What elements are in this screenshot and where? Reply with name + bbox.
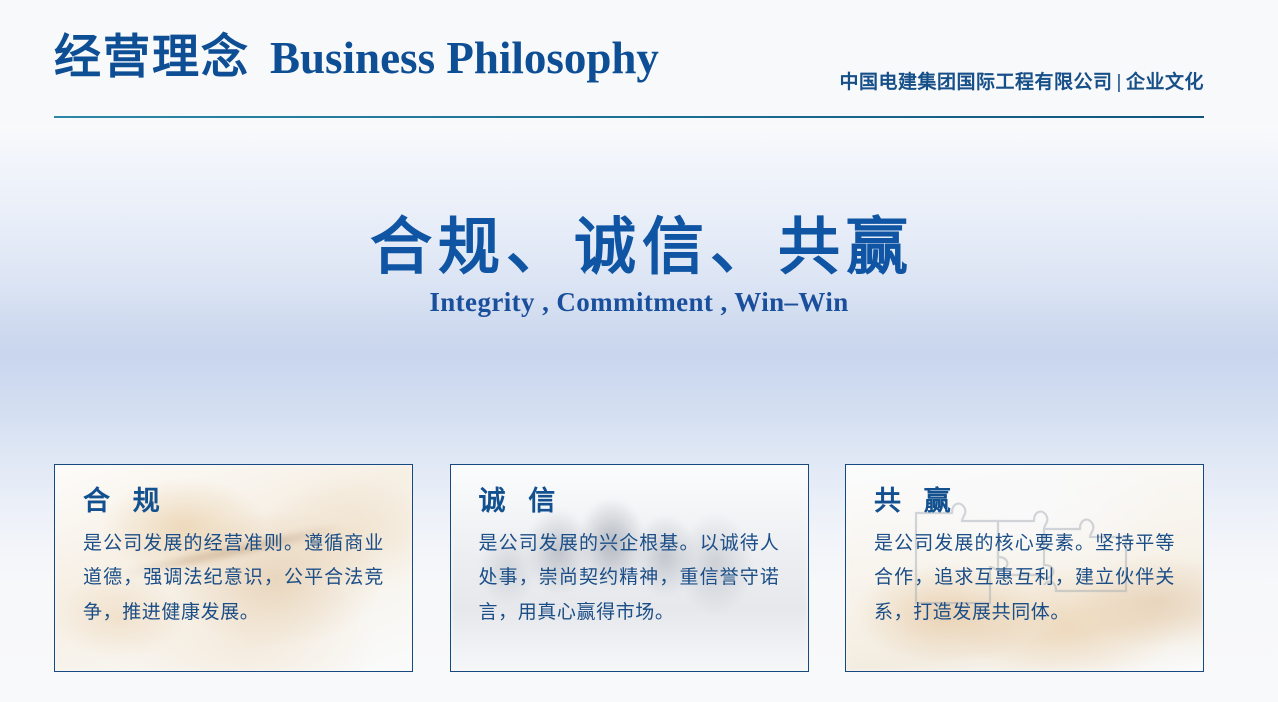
card-content: 诚 信 是公司发展的兴企根基。以诚待人处事，崇尚契约精神，重信誉守诺言，用真心赢… <box>451 465 808 630</box>
header-title-group: 经营理念 Business Philosophy <box>54 35 659 82</box>
hero-title: 合规、诚信、共赢 <box>0 215 1278 280</box>
hero-section: 合规、诚信、共赢 Integrity , Commitment , Win–Wi… <box>0 215 1278 318</box>
breadcrumb-separator: | <box>1113 72 1126 93</box>
card-title: 合 规 <box>83 487 384 517</box>
card-body-text: 是公司发展的兴企根基。以诚待人处事，崇尚契约精神，重信誉守诺言，用真心赢得市场。 <box>479 527 780 631</box>
page-title-en: Business Philosophy <box>270 36 659 81</box>
value-cards: 合 规 是公司发展的经营准则。遵循商业道德，强调法纪意识，公平合法竞争，推进健康… <box>54 464 1204 672</box>
card-title: 诚 信 <box>479 487 780 517</box>
page-header: 经营理念 Business Philosophy 中国电建集团国际工程有限公司|… <box>0 0 1278 124</box>
header-divider <box>54 116 1204 118</box>
card-content: 合 规 是公司发展的经营准则。遵循商业道德，强调法纪意识，公平合法竞争，推进健康… <box>55 465 412 630</box>
breadcrumb-section: 企业文化 <box>1126 72 1204 93</box>
value-card-integrity: 诚 信 是公司发展的兴企根基。以诚待人处事，崇尚契约精神，重信誉守诺言，用真心赢… <box>450 464 809 672</box>
card-body-text: 是公司发展的核心要素。坚持平等合作，追求互惠互利，建立伙伴关系，打造发展共同体。 <box>874 527 1175 631</box>
card-content: 共 赢 是公司发展的核心要素。坚持平等合作，追求互惠互利，建立伙伴关系，打造发展… <box>846 465 1203 630</box>
breadcrumb-company: 中国电建集团国际工程有限公司 <box>840 72 1113 93</box>
value-card-compliance: 合 规 是公司发展的经营准则。遵循商业道德，强调法纪意识，公平合法竞争，推进健康… <box>54 464 413 672</box>
hero-subtitle: Integrity , Commitment , Win–Win <box>0 288 1278 318</box>
card-title: 共 赢 <box>874 487 1175 517</box>
slide-page: 经营理念 Business Philosophy 中国电建集团国际工程有限公司|… <box>0 0 1278 702</box>
breadcrumb: 中国电建集团国际工程有限公司|企业文化 <box>840 67 1204 94</box>
card-body-text: 是公司发展的经营准则。遵循商业道德，强调法纪意识，公平合法竞争，推进健康发展。 <box>83 527 384 631</box>
header-inner: 经营理念 Business Philosophy 中国电建集团国际工程有限公司|… <box>54 0 1204 116</box>
page-title-cn: 经营理念 <box>54 35 250 82</box>
value-card-winwin: 共 赢 是公司发展的核心要素。坚持平等合作，追求互惠互利，建立伙伴关系，打造发展… <box>845 464 1204 672</box>
